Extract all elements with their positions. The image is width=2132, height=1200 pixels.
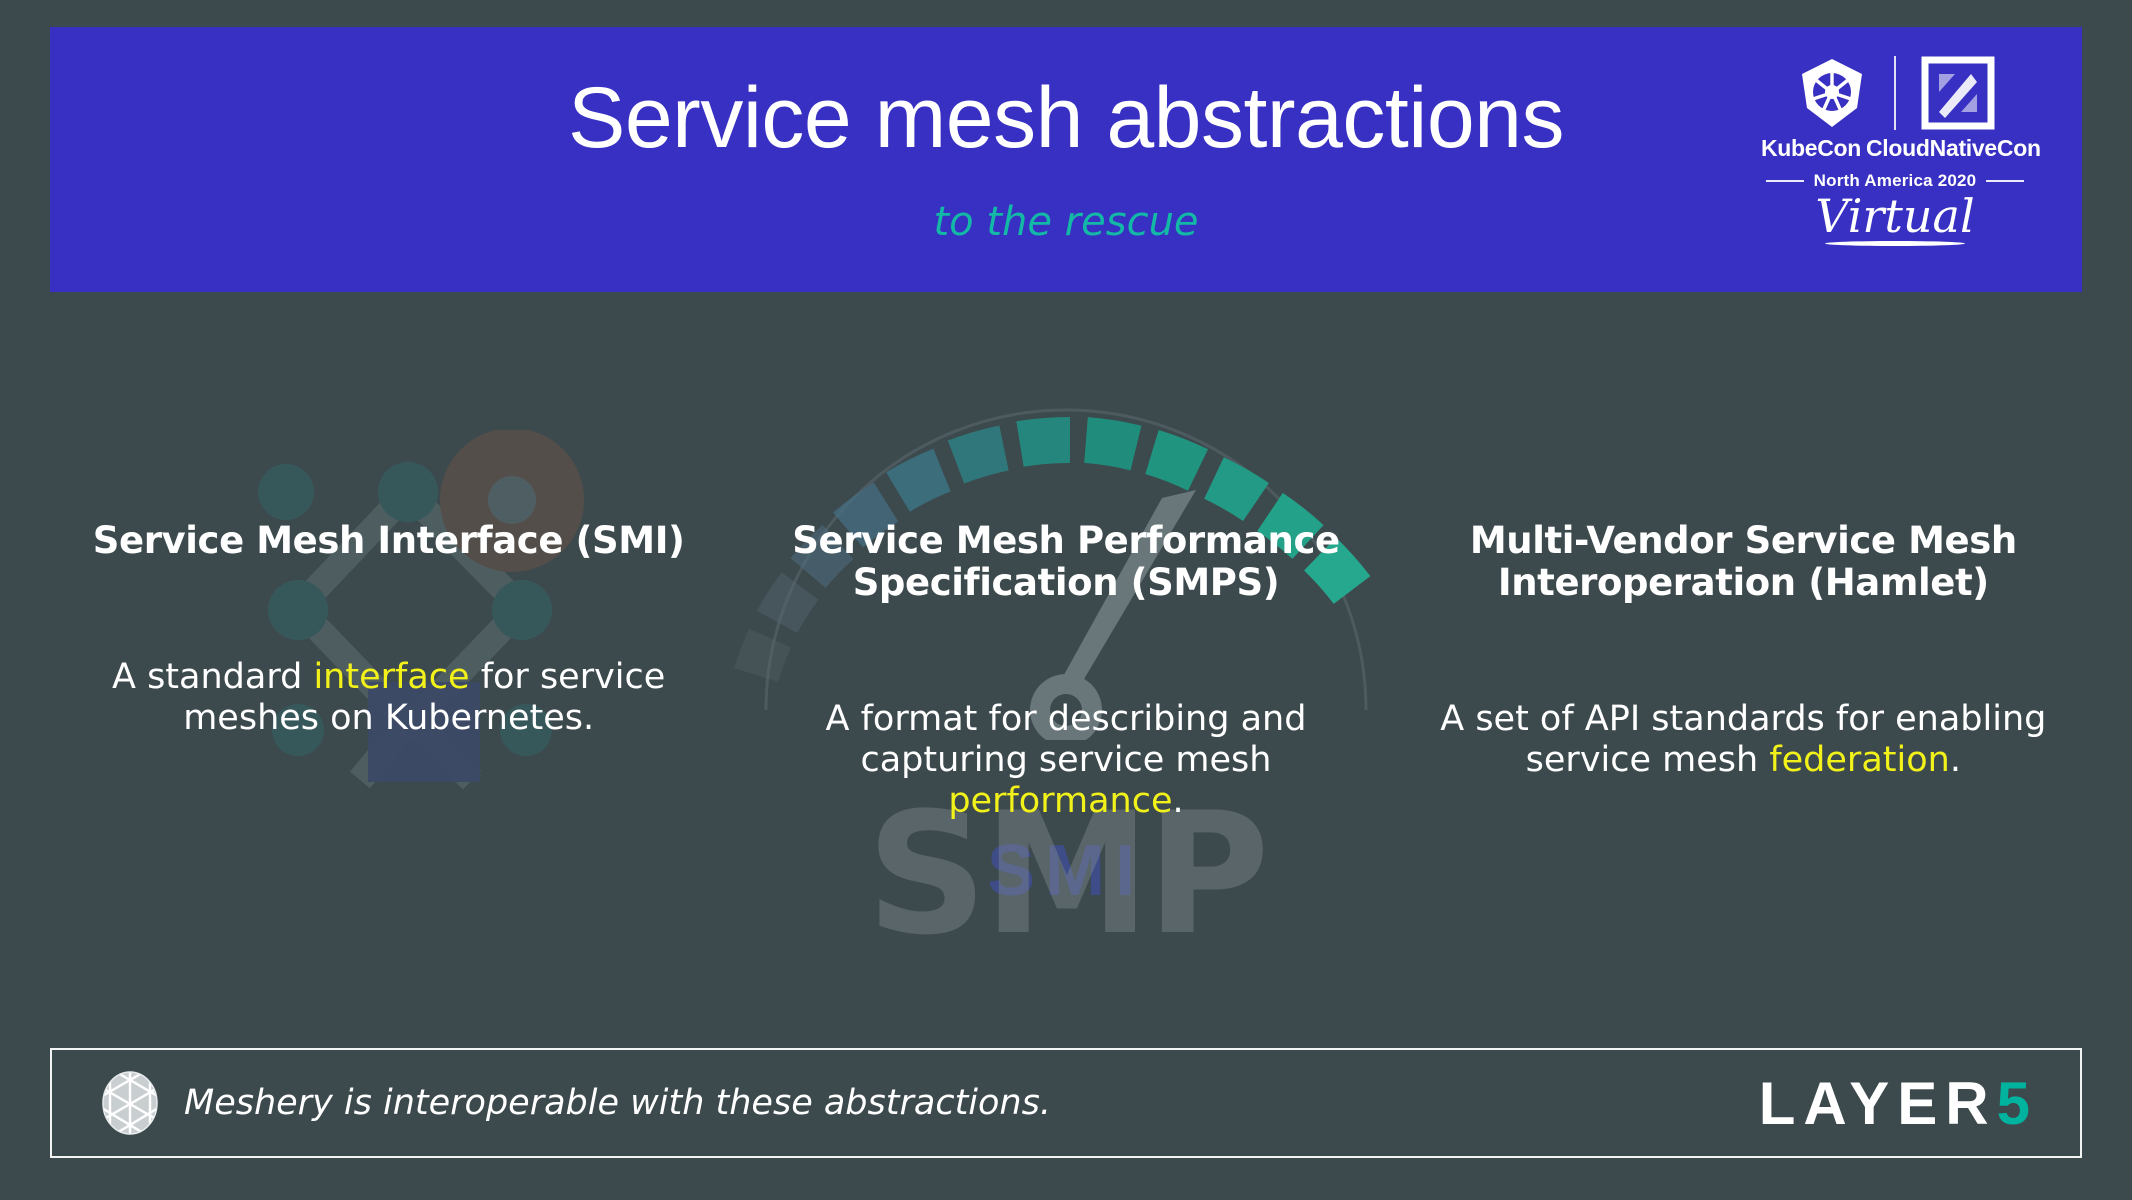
- logo-region-row: North America 2020: [1750, 171, 2040, 191]
- header-banner: Service mesh abstractions to the rescue: [50, 27, 2082, 292]
- meshery-geodesic-icon: [100, 1070, 160, 1136]
- kubernetes-wheel-icon: [1784, 54, 1880, 132]
- footer-bar: Meshery is interoperable with these abst…: [50, 1048, 2082, 1158]
- cloud-native-computing-foundation-icon: [1910, 56, 2006, 130]
- column-hamlet: Multi-Vendor Service Mesh Interoperation…: [1405, 520, 2082, 940]
- footer-caption: Meshery is interoperable with these abst…: [184, 1083, 1051, 1123]
- column-smi: Service Mesh Interface (SMI) A standard …: [50, 520, 727, 940]
- column-body: A set of API standards for enabling serv…: [1431, 699, 2056, 782]
- kubecon-label: KubeCon: [1756, 135, 1866, 162]
- cloudnativecon-label: CloudNativeCon: [1866, 135, 2034, 162]
- logo-virtual-label: Virtual: [1750, 193, 2040, 239]
- rule-left: [1766, 180, 1804, 182]
- column-body: A standard interface for service meshes …: [76, 657, 701, 740]
- body-prefix: A standard: [112, 657, 313, 697]
- body-suffix: .: [1950, 740, 1961, 780]
- abstractions-columns: Service Mesh Interface (SMI) A standard …: [50, 520, 2082, 940]
- logo-region-label: North America 2020: [1814, 171, 1977, 191]
- kubecon-cloudnativecon-logo: KubeCon CloudNativeCon North America 202…: [1750, 52, 2040, 267]
- layer5-digit: 5: [1997, 1069, 2030, 1138]
- body-suffix: .: [1173, 781, 1184, 821]
- logo-marks-row: [1750, 52, 2040, 134]
- body-highlight: interface: [313, 657, 469, 697]
- body-prefix: A format for describing and capturing se…: [826, 699, 1307, 780]
- body-highlight: federation: [1769, 740, 1950, 780]
- layer5-wordmark: LAYER: [1759, 1069, 1997, 1138]
- column-heading: Multi-Vendor Service Mesh Interoperation…: [1431, 520, 2056, 604]
- logo-divider: [1894, 56, 1896, 130]
- body-highlight: performance: [948, 781, 1172, 821]
- column-smps: Service Mesh Performance Specification (…: [727, 520, 1404, 940]
- rule-right: [1986, 180, 2024, 182]
- layer5-logo: LAYER5: [1759, 1069, 2030, 1138]
- column-body: A format for describing and capturing se…: [753, 699, 1378, 823]
- column-heading: Service Mesh Performance Specification (…: [753, 520, 1378, 604]
- logo-names-row: KubeCon CloudNativeCon: [1750, 135, 2040, 162]
- column-heading: Service Mesh Interface (SMI): [76, 520, 701, 562]
